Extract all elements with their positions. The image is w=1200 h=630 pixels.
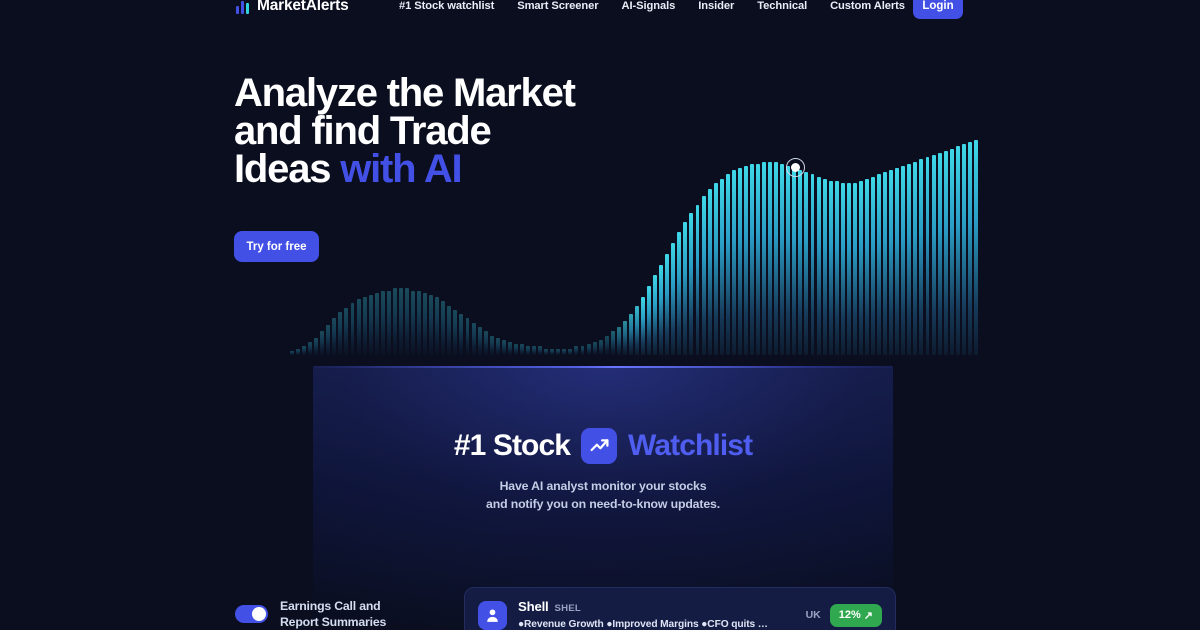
chart-bar	[683, 222, 687, 355]
chart-bar	[823, 179, 827, 355]
chart-bar	[338, 312, 342, 355]
chart-bar	[520, 344, 524, 355]
bar-chart-icon	[236, 0, 249, 14]
chart-bar	[738, 168, 742, 355]
stock-change-value: 12%	[839, 609, 861, 621]
chart-bar	[853, 183, 857, 355]
chart-bar	[804, 172, 808, 355]
top-navbar: MarketAlerts #1 Stock watchlist Smart Sc…	[0, 0, 1200, 24]
chart-bar	[865, 179, 869, 355]
chart-bar	[611, 331, 615, 355]
login-button[interactable]: Login	[913, 0, 963, 19]
chart-bar	[332, 318, 336, 355]
chart-bar	[556, 349, 560, 355]
chart-bar	[351, 303, 355, 355]
chart-bar	[320, 331, 324, 355]
chart-bar	[932, 155, 936, 355]
chart-bar	[405, 288, 409, 355]
chart-bar	[689, 213, 693, 355]
watchlist-subtitle: Have AI analyst monitor your stocks and …	[313, 477, 893, 513]
chart-bar	[871, 177, 875, 355]
stock-tags: ●Revenue Growth ●Improved Margins ●CFO q…	[518, 619, 768, 630]
user-avatar-icon	[478, 601, 507, 630]
chart-bar	[496, 338, 500, 355]
chart-bar	[708, 189, 712, 355]
nav-link-stock-watchlist[interactable]: #1 Stock watchlist	[399, 0, 494, 12]
watchlist-title-accent: Watchlist	[628, 429, 752, 463]
nav-link-ai-signals[interactable]: AI-Signals	[622, 0, 676, 12]
chart-bar	[847, 183, 851, 355]
nav-link-insider[interactable]: Insider	[698, 0, 734, 12]
chart-bar	[381, 291, 385, 356]
chart-bar	[344, 308, 348, 355]
chart-bar	[780, 164, 784, 355]
chart-bar	[423, 293, 427, 355]
chart-bar	[472, 323, 476, 355]
nav-links: #1 Stock watchlist Smart Screener AI-Sig…	[399, 0, 905, 12]
watchlist-subtitle-line-2: and notify you on need-to-know updates.	[313, 495, 893, 513]
trending-up-icon	[581, 428, 617, 464]
chart-bar	[308, 342, 312, 355]
chart-bar	[883, 172, 887, 355]
brand-logo[interactable]: MarketAlerts	[236, 0, 349, 15]
chart-bar	[502, 340, 506, 355]
chart-bar	[792, 168, 796, 355]
hero-bar-chart	[290, 140, 980, 355]
chart-bar	[653, 275, 657, 355]
stock-region: UK	[806, 609, 821, 621]
chart-bar	[901, 166, 905, 355]
chart-bar	[562, 349, 566, 355]
chart-bar	[732, 170, 736, 355]
chart-bar	[786, 166, 790, 355]
chart-bar	[514, 344, 518, 355]
watchlist-title-plain: #1 Stock	[454, 429, 570, 463]
chart-bar	[581, 346, 585, 355]
chart-bar	[453, 310, 457, 355]
chart-bar	[508, 342, 512, 355]
chart-bar	[417, 291, 421, 356]
brand-name: MarketAlerts	[257, 0, 349, 15]
chart-bar	[599, 340, 603, 355]
feature-toggle-label: Earnings Call and Report Summaries	[280, 598, 386, 630]
stock-name-row: Shell SHEL	[518, 599, 795, 614]
chart-bar	[605, 336, 609, 355]
chart-bar	[441, 301, 445, 355]
panel-top-glow	[313, 366, 893, 368]
chart-bar	[526, 346, 530, 355]
chart-bar	[938, 153, 942, 355]
chart-bar	[296, 349, 300, 355]
chart-bar	[835, 181, 839, 355]
watchlist-panel: #1 Stock Watchlist Have AI analyst monit…	[313, 366, 893, 630]
chart-bar	[811, 174, 815, 355]
chart-bar	[302, 346, 306, 355]
chart-bar	[956, 146, 960, 355]
chart-bar	[817, 177, 821, 355]
chart-bar	[363, 297, 367, 355]
chart-bar	[726, 174, 730, 355]
chart-bar	[544, 349, 548, 355]
chart-marker-point[interactable]	[786, 158, 805, 177]
chart-bar	[635, 306, 639, 355]
chart-bar	[659, 265, 663, 355]
chart-bar	[387, 291, 391, 356]
chart-bar	[671, 243, 675, 355]
chart-bar	[478, 327, 482, 355]
chart-bar	[919, 159, 923, 355]
chart-bar	[314, 338, 318, 355]
chart-bar	[889, 170, 893, 355]
chart-bar	[399, 288, 403, 355]
landing-page: MarketAlerts #1 Stock watchlist Smart Sc…	[0, 0, 1200, 630]
chart-bar	[968, 142, 972, 355]
chart-bar	[926, 157, 930, 355]
chart-bar	[913, 162, 917, 356]
chart-bar	[714, 183, 718, 355]
chart-bar	[369, 295, 373, 355]
chart-bar	[429, 295, 433, 355]
chart-bar	[756, 164, 760, 355]
chart-bar	[744, 166, 748, 355]
chart-bar	[829, 181, 833, 355]
arrow-up-right-icon: ↗	[864, 609, 873, 622]
chart-bar	[466, 318, 470, 355]
chart-bar	[538, 346, 542, 355]
earnings-summaries-toggle[interactable]	[235, 605, 268, 623]
chart-bar	[944, 151, 948, 355]
chart-bar	[907, 164, 911, 355]
nav-link-smart-screener[interactable]: Smart Screener	[517, 0, 598, 12]
watchlist-heading: #1 Stock Watchlist	[313, 428, 893, 464]
chart-bar	[393, 288, 397, 355]
stock-name: Shell	[518, 599, 549, 614]
stock-info: Shell SHEL ●Revenue Growth ●Improved Mar…	[518, 599, 795, 630]
chart-bar	[550, 349, 554, 355]
chart-bar	[435, 297, 439, 355]
chart-bar	[877, 174, 881, 355]
chart-bar	[326, 325, 330, 355]
chart-bar	[774, 162, 778, 356]
chart-bar	[798, 170, 802, 355]
feature-toggle-row: Earnings Call and Report Summaries	[235, 598, 465, 630]
feature-label-line-2: Report Summaries	[280, 614, 386, 630]
chart-bar	[950, 149, 954, 355]
chart-bar	[574, 346, 578, 355]
chart-bar	[750, 164, 754, 355]
chart-bar	[665, 254, 669, 355]
chart-bar	[647, 286, 651, 355]
stock-metrics: UK 12% ↗	[806, 604, 882, 627]
chart-bar	[617, 327, 621, 355]
chart-bar	[974, 140, 978, 355]
chart-bar	[357, 299, 361, 355]
chart-bar	[629, 314, 633, 355]
chart-bar	[411, 291, 415, 356]
chart-bar	[641, 297, 645, 355]
chart-bar	[587, 344, 591, 355]
chart-bar	[702, 196, 706, 355]
nav-link-custom-alerts[interactable]: Custom Alerts	[830, 0, 905, 12]
chart-bar	[677, 232, 681, 355]
chart-bar	[623, 321, 627, 355]
stock-row-shell[interactable]: Shell SHEL ●Revenue Growth ●Improved Mar…	[464, 587, 896, 630]
chart-bar	[593, 342, 597, 355]
chart-bar	[895, 168, 899, 355]
chart-bar	[768, 162, 772, 356]
chart-bar	[484, 331, 488, 355]
nav-link-technical[interactable]: Technical	[757, 0, 807, 12]
chart-bar	[490, 336, 494, 355]
chart-bar	[459, 314, 463, 355]
chart-bar	[720, 179, 724, 355]
chart-bar	[859, 181, 863, 355]
chart-bar	[568, 349, 572, 355]
chart-bar	[841, 183, 845, 355]
chart-bar	[290, 351, 294, 355]
stock-ticker: SHEL	[555, 603, 581, 614]
chart-bar	[532, 346, 536, 355]
toggle-knob	[252, 607, 266, 621]
chart-bar	[696, 205, 700, 356]
chart-bar	[962, 144, 966, 355]
chart-bar	[447, 306, 451, 355]
chart-bar	[375, 293, 379, 355]
chart-bar	[762, 162, 766, 356]
watchlist-subtitle-line-1: Have AI analyst monitor your stocks	[313, 477, 893, 495]
status-badge: 12% ↗	[830, 604, 882, 627]
feature-label-line-1: Earnings Call and	[280, 598, 386, 614]
